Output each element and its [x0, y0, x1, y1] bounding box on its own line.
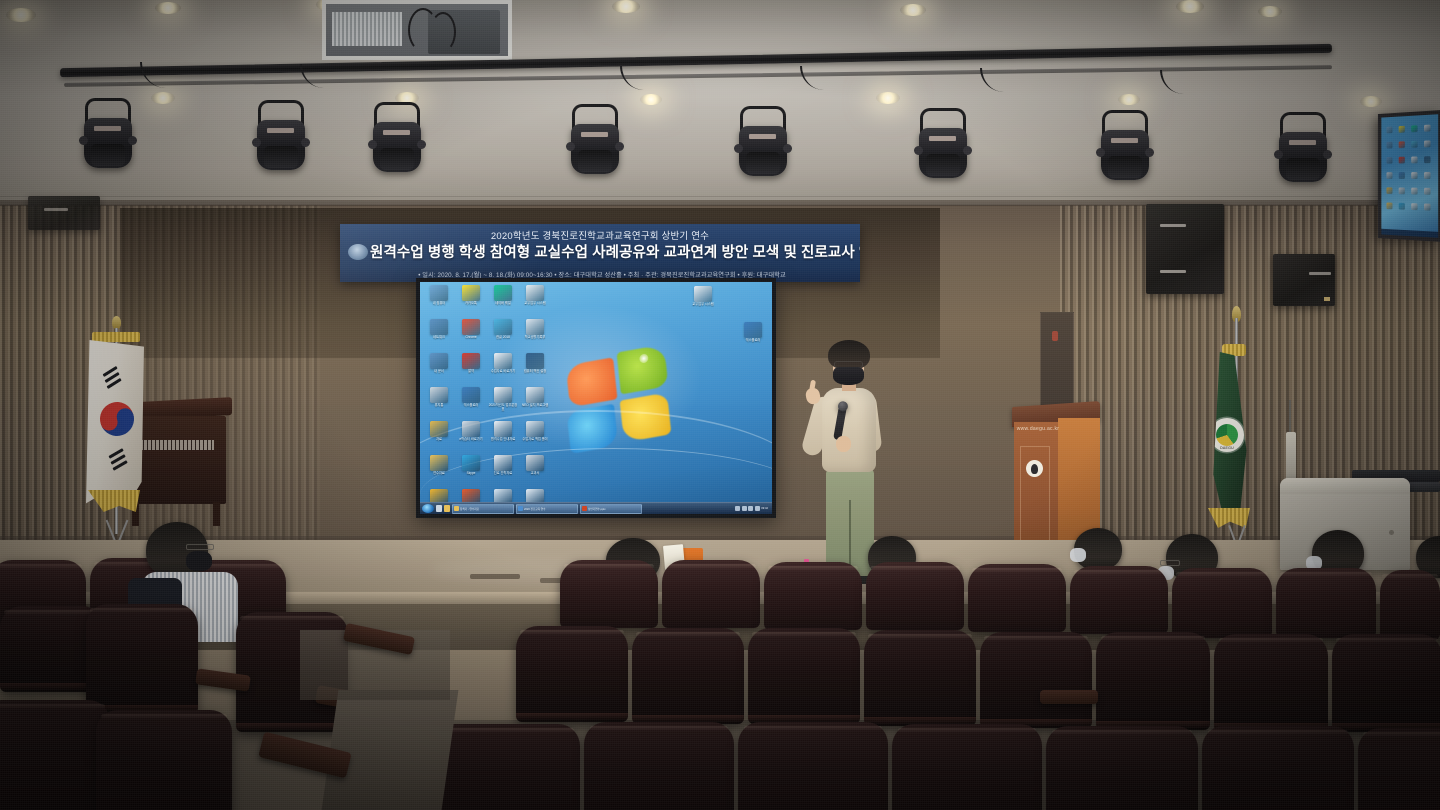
- document-icon: [494, 421, 512, 437]
- desktop-icon[interactable]: 알약: [456, 353, 486, 374]
- desktop-icon-label: 교과서: [520, 472, 550, 476]
- desktop-icon[interactable]: 원격수업 안내자료: [488, 421, 518, 442]
- computer-icon: [430, 285, 448, 301]
- hancom-icon: [494, 319, 512, 335]
- projector-vent: [332, 12, 402, 46]
- downlight-icon: [612, 0, 640, 13]
- folder-icon: [526, 421, 544, 437]
- wall-trim: [0, 200, 1440, 206]
- document-icon: [526, 319, 544, 335]
- stage-spotlight: [1274, 112, 1332, 186]
- seat[interactable]: [1276, 568, 1376, 638]
- projected-desktop[interactable]: 내 컴퓨터카카오톡네이버 웨일교무업무 시스템네트워크Chrome한글 2018…: [420, 282, 772, 514]
- computer-icon: [1386, 126, 1392, 133]
- desktop-icon-label: 수업자료 백업 폴더: [520, 438, 550, 442]
- seat[interactable]: [980, 632, 1092, 728]
- seat[interactable]: [1214, 634, 1328, 732]
- stage-spotlight: [252, 100, 310, 174]
- desktop-icon-label: 네이버 웨일: [488, 302, 518, 306]
- desktop-icon[interactable]: 네트워크: [424, 319, 454, 340]
- taeguk-symbol: [96, 398, 139, 441]
- seat[interactable]: [1172, 568, 1272, 638]
- network-icon[interactable]: [748, 506, 753, 511]
- shield-icon: [1424, 156, 1431, 163]
- document-icon: [1399, 188, 1405, 195]
- projection-screen: 내 컴퓨터카카오톡네이버 웨일교무업무 시스템네트워크Chrome한글 2018…: [416, 278, 776, 518]
- document-icon: [694, 286, 712, 302]
- seat[interactable]: [662, 560, 760, 628]
- naver-icon: [494, 285, 512, 301]
- desktop-icon-label: 진로 진학자료: [488, 472, 518, 476]
- equipment-column: [1286, 432, 1296, 482]
- auditorium-photo: 2020학년도 경북진로진학교과교육연구회 상반기 연수 원격수업 병행 학생 …: [0, 0, 1440, 810]
- seat[interactable]: [738, 722, 888, 810]
- installer-icon: [526, 387, 544, 403]
- start-button[interactable]: [422, 504, 434, 513]
- desktop-icon-label: 학교생활기록부: [520, 336, 550, 340]
- taskbar-buttons[interactable]: 탐색기 - 연수자료2020 진로교육 연수상반기연수.pptx: [452, 504, 642, 514]
- desktop-icon-label: e학습터 바로가기: [456, 438, 486, 442]
- desktop-icon[interactable]: 네이버 웨일: [488, 285, 518, 306]
- kakaotalk-icon: [1399, 126, 1405, 133]
- seat[interactable]: [1202, 726, 1354, 810]
- seat[interactable]: [430, 724, 580, 810]
- desktop-icon-label: 네트워크: [424, 336, 454, 340]
- naver-icon: [1411, 125, 1417, 132]
- recycle-bin-icon: [430, 387, 448, 403]
- stage-spotlight: [914, 108, 972, 182]
- desktop-icon[interactable]: 학교생활기록부: [520, 319, 550, 340]
- face-mask-icon: [186, 551, 212, 571]
- seat[interactable]: [560, 560, 658, 628]
- desktop-icon-label: Skype: [456, 472, 486, 476]
- skype-icon: [1399, 203, 1405, 210]
- wall-speaker: [1273, 254, 1335, 306]
- desktop-icon[interactable]: 익스플로러: [738, 322, 768, 343]
- emblem-text: DAEGU: [1210, 446, 1244, 450]
- face-mask-icon: [833, 367, 864, 385]
- desktop-icon[interactable]: 2020학년도 업무분장표: [488, 387, 518, 411]
- projector-cable: [430, 12, 456, 52]
- document-icon: [1411, 203, 1417, 210]
- desktop-icon[interactable]: NEO 설치 프로그램: [520, 387, 550, 408]
- korean-national-flag: [86, 340, 144, 505]
- ceiling-shading: [0, 0, 1440, 215]
- desktop-icon-label: 수업자료 바로가기: [488, 370, 518, 374]
- wall-mounted-monitor: [1378, 110, 1440, 242]
- desktop-icon-label: 내 컴퓨터: [424, 302, 454, 306]
- seat[interactable]: [764, 562, 862, 630]
- desktop-icon-label: 자료: [424, 438, 454, 442]
- document-icon: [494, 387, 512, 403]
- monitor-screen: [1381, 114, 1438, 238]
- taskbar[interactable]: 탐색기 - 연수자료2020 진로교육 연수상반기연수.pptx 09:42: [420, 502, 772, 514]
- stage-spotlight: [1096, 110, 1154, 184]
- book-icon: [526, 455, 544, 471]
- safe-remove-icon[interactable]: [755, 506, 760, 511]
- university-flag-stand: DAEGU: [1196, 310, 1286, 572]
- folder-icon: [1424, 188, 1431, 195]
- event-banner: 2020학년도 경북진로진학교과교육연구회 상반기 연수 원격수업 병행 학생 …: [340, 224, 860, 282]
- document-icon: [1411, 156, 1417, 163]
- desktop-icon[interactable]: 교무업무 시스템: [688, 286, 718, 307]
- downlight-icon: [640, 94, 662, 105]
- desktop-icon-label: 2020학년도 업무분장표: [488, 404, 518, 411]
- seat[interactable]: [968, 564, 1066, 632]
- desktop-icon[interactable]: 교무업무 시스템: [520, 285, 550, 306]
- downlight-icon: [876, 92, 900, 104]
- taskbar: [1381, 229, 1438, 238]
- document-icon: [1411, 188, 1417, 195]
- seat[interactable]: [584, 722, 734, 810]
- desktop-icon[interactable]: 진로 진학자료: [488, 455, 518, 476]
- stage-spotlight: [566, 104, 624, 178]
- desktop-icon[interactable]: e학습터 바로가기: [456, 421, 486, 442]
- desktop-icon-label: 익스플로러: [738, 339, 768, 343]
- banner-headline: 원격수업 병행 학생 참여형 교실수업 사례공유와 교과연계 방안 모색 및 진…: [370, 241, 854, 262]
- desktop-icon-label: 알약: [456, 370, 486, 374]
- tray-clock[interactable]: 09:42: [761, 507, 768, 510]
- kakaotalk-icon: [462, 285, 480, 301]
- mic-stand: [1289, 400, 1291, 436]
- university-flag: DAEGU: [1206, 352, 1252, 522]
- document-icon: [1424, 140, 1431, 147]
- desktop-icon-label: 휴지통: [424, 404, 454, 408]
- seat[interactable]: [0, 700, 110, 810]
- wall-speaker: [1146, 204, 1224, 294]
- taskbar-button-icon: [454, 506, 459, 511]
- downlight-icon: [155, 2, 181, 14]
- seat[interactable]: [1332, 634, 1440, 732]
- desktop-icon-label: 내 문서: [424, 370, 454, 374]
- seat-armrest: [1040, 690, 1098, 704]
- presenter-mic-hand: [836, 436, 851, 452]
- skype-icon: [462, 455, 480, 471]
- ceiling-projector: [322, 0, 512, 60]
- downlight-icon: [900, 4, 926, 16]
- face-mask-icon: [1070, 548, 1086, 562]
- taskbar-button-label: 탐색기 - 연수자료: [460, 507, 479, 511]
- stage-spotlight: [368, 102, 426, 176]
- lectern-url: www.daegu.ac.kr: [1016, 426, 1060, 432]
- daegu-university-emblem-icon: DAEGU: [1210, 418, 1244, 452]
- seat[interactable]: [748, 628, 860, 724]
- network-icon: [430, 319, 448, 335]
- downlight-icon: [6, 8, 36, 22]
- desktop-icon[interactable]: 내 문서: [424, 353, 454, 374]
- seat[interactable]: [1046, 726, 1198, 810]
- folder-icon: [430, 353, 448, 369]
- desktop-icon[interactable]: 연수자료: [424, 455, 454, 476]
- taskbar-button[interactable]: 2020 진로교육 연수: [516, 504, 578, 514]
- ie-icon: [744, 322, 762, 338]
- folder-icon: [1386, 157, 1392, 164]
- desktop-icon[interactable]: 내 컴퓨터: [424, 285, 454, 306]
- stage-spotlight: [79, 98, 137, 172]
- folder-icon: [430, 455, 448, 471]
- research-group-logo-icon: [348, 244, 368, 260]
- presenter-torso: [822, 388, 876, 472]
- desktop-icon-label: 한글 2018: [488, 336, 518, 340]
- desktop-icon-label: 익스플로러: [456, 404, 486, 408]
- book-icon: [1424, 204, 1431, 211]
- desktop-icon[interactable]: 교과서: [520, 455, 550, 476]
- desktop-icon-label: 교무업무 시스템: [520, 302, 550, 306]
- downlight-icon: [1360, 96, 1382, 107]
- taskbar-button-icon: [582, 506, 587, 511]
- desktop-icon-label: 카카오톡: [456, 302, 486, 306]
- stage-spotlight: [734, 106, 792, 180]
- volume-icon[interactable]: [742, 506, 747, 511]
- desktop-icon[interactable]: 수업자료 백업 폴더: [520, 421, 550, 442]
- wall-speaker: [28, 196, 100, 230]
- seat[interactable]: [892, 724, 1042, 810]
- desktop-icon[interactable]: Skype: [456, 455, 486, 476]
- shield-icon: [526, 353, 544, 369]
- document-icon: [494, 353, 512, 369]
- alyac-icon: [1399, 157, 1405, 164]
- banner-subtitle: 2020학년도 경북진로진학교과교육연구회 상반기 연수: [340, 228, 860, 242]
- seat[interactable]: [1380, 570, 1440, 640]
- desktop-icon-label: 연수자료: [424, 472, 454, 476]
- downlight-icon: [1176, 0, 1204, 13]
- ime-icon[interactable]: [735, 506, 740, 511]
- chrome-icon: [462, 319, 480, 335]
- network-icon: [1386, 142, 1392, 149]
- floor-vent: [470, 574, 520, 579]
- desktop-icon-label: 교무업무 시스템: [688, 303, 718, 307]
- folder-icon: [1386, 187, 1392, 194]
- desktop-icon-label: 컴퓨터 백신 설정: [520, 370, 550, 374]
- downlight-icon: [1118, 94, 1140, 105]
- seat[interactable]: [866, 562, 964, 630]
- desktop-icon-label: Chrome: [456, 336, 486, 340]
- document-icon: [494, 455, 512, 471]
- hancom-icon: [1411, 141, 1417, 148]
- installer-icon: [1424, 172, 1431, 179]
- daegu-university-emblem-icon: [1026, 460, 1043, 477]
- desktop-icon-label: 원격수업 안내자료: [488, 438, 518, 442]
- taskbar-button-label: 2020 진로교육 연수: [524, 507, 546, 511]
- flag-fringe: [92, 332, 140, 342]
- recycle-bin-icon: [1386, 172, 1392, 179]
- flag-fringe: [88, 490, 140, 512]
- folder-icon: [430, 421, 448, 437]
- desktop-icon-label: NEO 설치 프로그램: [520, 404, 550, 408]
- document-icon: [1411, 172, 1417, 179]
- desktop-icon[interactable]: 수업자료 바로가기: [488, 353, 518, 374]
- taskbar-button[interactable]: 탐색기 - 연수자료: [452, 504, 514, 514]
- taskbar-button-label: 상반기연수.pptx: [588, 507, 606, 511]
- seat[interactable]: [1358, 728, 1440, 810]
- document-icon: [462, 421, 480, 437]
- downlight-icon: [151, 92, 175, 104]
- seat[interactable]: [96, 710, 232, 810]
- seat[interactable]: [516, 626, 628, 722]
- ie-icon: [462, 387, 480, 403]
- desktop-icon[interactable]: Chrome: [456, 319, 486, 340]
- folder-icon: [1386, 203, 1392, 210]
- glasses-icon: [186, 544, 214, 550]
- desktop-icon[interactable]: 컴퓨터 백신 설정: [520, 353, 550, 374]
- document-icon: [526, 285, 544, 301]
- chrome-icon: [1399, 141, 1405, 148]
- seat[interactable]: [1070, 566, 1168, 634]
- desktop-icon[interactable]: 휴지통: [424, 387, 454, 408]
- seat[interactable]: [864, 630, 976, 726]
- indicator-icon: [1052, 331, 1058, 341]
- quick-launch-icon[interactable]: [444, 505, 450, 512]
- seat[interactable]: [632, 628, 744, 724]
- system-tray[interactable]: 09:42: [735, 506, 770, 511]
- seat[interactable]: [86, 604, 198, 714]
- ie-icon: [1399, 172, 1405, 179]
- desktop-icon[interactable]: 한글 2018: [488, 319, 518, 340]
- document-icon: [1424, 125, 1431, 132]
- desktop-icon[interactable]: 자료: [424, 421, 454, 442]
- downlight-icon: [1258, 6, 1282, 17]
- desktop-icon[interactable]: 익스플로러: [456, 387, 486, 408]
- seat[interactable]: [1096, 632, 1210, 730]
- ceiling-seam: [0, 196, 1440, 197]
- quick-launch-icon[interactable]: [436, 505, 442, 512]
- taskbar-button[interactable]: 상반기연수.pptx: [580, 504, 642, 514]
- alyac-icon: [462, 353, 480, 369]
- taskbar-button-icon: [518, 506, 523, 511]
- desktop-icon[interactable]: 카카오톡: [456, 285, 486, 306]
